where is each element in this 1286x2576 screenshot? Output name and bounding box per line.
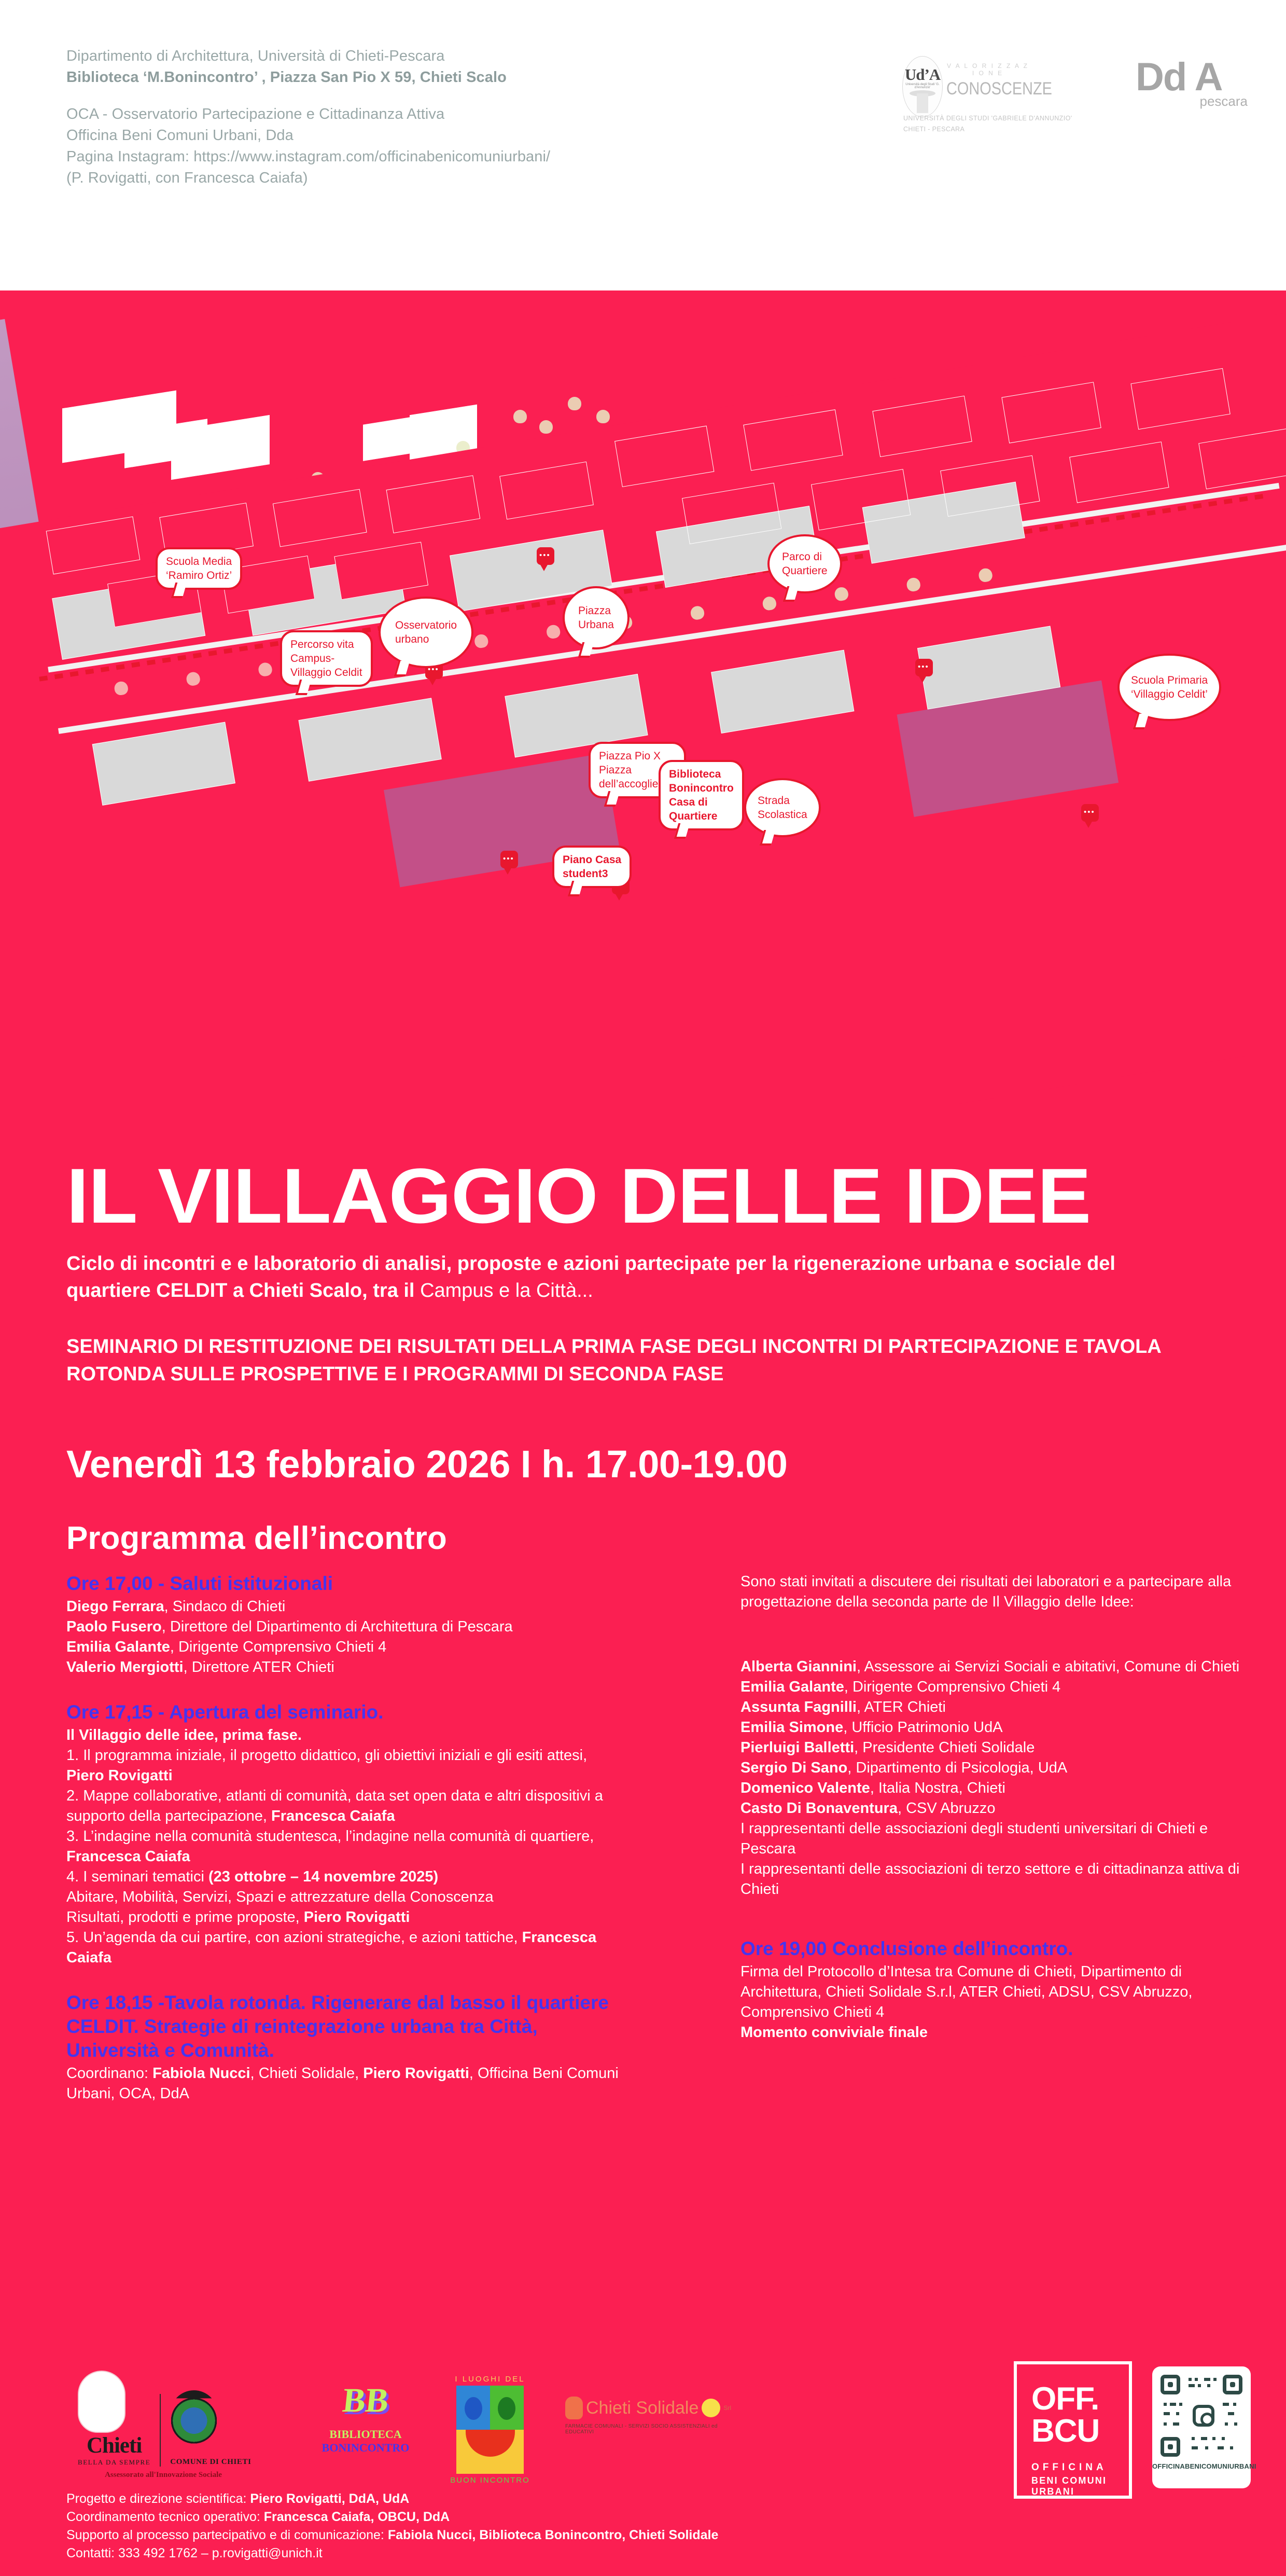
qr-module	[1233, 2403, 1236, 2406]
map-building	[711, 650, 854, 733]
map-tree	[258, 662, 273, 677]
invitee-name: Alberta Giannini	[740, 1658, 857, 1675]
map-pin-icon: •••	[537, 547, 554, 565]
instagram-icon	[1193, 2405, 1214, 2427]
slot-1700-heading: Ore 17,00 - Saluti istituzionali	[66, 1572, 626, 1596]
map-pin-icon: •••	[1081, 804, 1099, 822]
programme-point: 5. Un’agenda da cui partire, con azioni …	[66, 1928, 626, 1968]
header-line-oca: OCA - Osservatorio Partecipazione e Citt…	[66, 104, 803, 125]
map-building-block	[386, 475, 481, 533]
pin-dots: •••	[918, 666, 929, 669]
coord-label: Coordinano:	[66, 2065, 152, 2082]
qr-module	[1223, 2403, 1229, 2406]
invitee-role: , ATER Chieti	[857, 1699, 946, 1715]
map-tree	[114, 681, 129, 696]
speaker-name: Emilia Galante	[66, 1639, 170, 1655]
invitee-role: , Presidente Chieti Solidale	[854, 1739, 1035, 1756]
header-line-instagram[interactable]: Pagina Instagram: https://www.instagram.…	[66, 146, 803, 168]
chieti-solidale-srl: Srl	[723, 2404, 731, 2412]
uda-caption-line1: UNIVERSITÀ DEGLI STUDI 'GABRIELE D'ANNUN…	[903, 113, 1072, 124]
header-line-venue: Biblioteca ‘M.Bonincontro’ , Piazza San …	[66, 67, 803, 88]
qr-module	[1164, 2403, 1167, 2406]
credit-label: Supporto al processo partecipativo e di …	[66, 2528, 388, 2542]
bb-line2: BONINCONTRO	[306, 2441, 425, 2455]
qr-finder-tr	[1223, 2375, 1242, 2394]
invitee-role: , Dipartimento di Psicologia, UdA	[847, 1760, 1067, 1776]
programme-heading: Programma dell’incontro	[66, 1520, 447, 1557]
map-building-block	[334, 542, 428, 600]
programme-slot-1715: Ore 17,15 - Apertura del seminario. Il V…	[66, 1700, 626, 1968]
slot-1715-lead-text: Il Villaggio delle idee, prima fase.	[66, 1727, 302, 1743]
slot-1715-heading: Ore 17,15 - Apertura del seminario.	[66, 1700, 626, 1724]
point-text: 1. Il programma iniziale, il progetto di…	[66, 1747, 587, 1764]
speaker-name: Diego Ferrara	[66, 1598, 164, 1615]
speaker-row: Paolo Fusero, Direttore del Dipartimento…	[66, 1617, 626, 1637]
qr-module	[1173, 2422, 1179, 2426]
qr-module	[1179, 2403, 1182, 2406]
programme-point: Abitare, Mobilità, Servizi, Spazi e attr…	[66, 1887, 626, 1907]
point-text: 4. I seminari tematici	[66, 1868, 208, 1885]
qr-finder-bl	[1161, 2437, 1180, 2457]
bb-monogram: BB	[304, 2381, 427, 2420]
map-building-outline	[1069, 441, 1169, 503]
map-tree	[186, 671, 201, 687]
credit-value: Piero Rovigatti, DdA, UdA	[250, 2491, 409, 2506]
programme-point: Risultati, prodotti e prime proposte, Pi…	[66, 1907, 626, 1928]
subtitle-regular-part: Campus e la Città...	[420, 1280, 593, 1301]
qr-module	[1192, 2446, 1198, 2449]
slot-1900-body: Firma del Protocollo d’Intesa tra Comune…	[740, 1962, 1264, 2023]
point-text: Risultati, prodotti e prime proposte,	[66, 1909, 304, 1926]
qr-module	[1164, 2412, 1170, 2415]
programme-right-column: Sono stati invitati a discutere dei risu…	[740, 1572, 1264, 2066]
speaker-role: , Direttore ATER Chieti	[184, 1659, 334, 1675]
offbcu-caption2: BENI COMUNI URBANI	[1031, 2475, 1129, 2497]
poster-title: IL VILLAGGIO DELLE IDEE	[66, 1157, 1091, 1235]
qr-module	[1176, 2412, 1179, 2415]
invitee-role: , Italia Nostra, Chieti	[870, 1780, 1005, 1796]
map-callout-piano-casa: Piano Casa student3	[552, 846, 632, 888]
map-callout-percorso-vita: Percorso vita Campus- Villaggio Celdit	[280, 630, 373, 687]
comune-label: COMUNE DI CHIETI	[170, 2458, 251, 2467]
chieti-wordmark: Chieti	[78, 2433, 150, 2458]
speaker-row: Valerio Mergiotti, Direttore ATER Chieti	[66, 1657, 626, 1678]
slot-1815-coordinators: Coordinano: Fabiola Nucci, Chieti Solida…	[66, 2063, 626, 2104]
conoscenze-text: CONOSCENZE	[946, 79, 1022, 99]
qr-module	[1189, 2378, 1192, 2381]
dda-wordmark: Dd A	[1136, 57, 1250, 98]
programme-left-column: Ore 17,00 - Saluti istituzionali Diego F…	[66, 1572, 626, 2127]
credit-value: Francesca Caiafa, OBCU, DdA	[264, 2510, 450, 2524]
map-building-outline	[872, 396, 972, 457]
header-spacer	[66, 88, 803, 104]
map-callout-strada-scolastica: Strada Scolastica	[744, 778, 821, 837]
uda-caption-line2: CHIETI - PESCARA	[903, 124, 1072, 135]
point-text: 3. L’indagine nella comunità studentesca…	[66, 1828, 594, 1845]
speaker-role: , Direttore del Dipartimento di Architet…	[162, 1618, 513, 1635]
qr-module	[1195, 2378, 1198, 2381]
invitee-row: Emilia Galante, Dirigente Comprensivo Ch…	[740, 1677, 1264, 1697]
footer-credits: Progetto e direzione scientifica: Piero …	[66, 2490, 1052, 2563]
invitee-role: , Assessore ai Servizi Sociali e abitati…	[857, 1658, 1239, 1675]
offbcu-line1: OFF.	[1031, 2383, 1099, 2415]
invitee-name: Emilia Simone	[740, 1719, 843, 1736]
valorizzazione-text: V A L O R I Z Z A Z I O N E	[946, 62, 1029, 77]
invitees-list: Alberta Giannini, Assessore ai Servizi S…	[740, 1657, 1264, 1900]
map-tree	[596, 410, 610, 423]
slot-1715-lead: Il Villaggio delle idee, prima fase.	[66, 1725, 626, 1746]
map-building-outline	[940, 455, 1040, 517]
credit-row: Progetto e direzione scientifica: Piero …	[66, 2490, 1052, 2508]
map-callout-parco-di-quartiere: Parco di Quartiere	[767, 534, 842, 593]
chieti-tagline: BELLA DA SEMPRE	[78, 2458, 150, 2467]
invitees-intro: Sono stati invitati a discutere dei risu…	[740, 1572, 1264, 1612]
programme-slot-1700: Ore 17,00 - Saluti istituzionali Diego F…	[66, 1572, 626, 1678]
speaker-role: , Dirigente Comprensivo Chieti 4	[170, 1639, 386, 1655]
seminar-description: SEMINARIO DI RESTITUZIONE DEI RISULTATI …	[66, 1333, 1202, 1388]
speaker-row: Diego Ferrara, Sindaco di Chieti	[66, 1597, 626, 1617]
qr-module	[1205, 2446, 1208, 2449]
invitee-row: Casto Di Bonaventura, CSV Abruzzo	[740, 1798, 1264, 1819]
credit-label: Progetto e direzione scientifica:	[66, 2491, 250, 2506]
map-building-block	[499, 462, 594, 520]
logo-chieti-comune: Chieti BELLA DA SEMPRE COMUNE DI CHIETI …	[78, 2371, 296, 2480]
programme-slot-1815: Ore 18,15 -Tavola rotonda. Rigenerare da…	[66, 1991, 626, 2104]
luoghi-eye-blue	[465, 2397, 482, 2420]
map-building-block	[273, 489, 367, 547]
map-tree	[539, 420, 553, 434]
invitee-name: Casto Di Bonaventura	[740, 1800, 898, 1817]
qr-module	[1212, 2437, 1215, 2440]
uda-pillar-body	[917, 93, 928, 113]
invitee-name: Sergio Di Sano	[740, 1760, 847, 1776]
coord-mid: , Chieti Solidale,	[250, 2065, 364, 2082]
logo-divider	[160, 2394, 161, 2467]
pin-dots: •••	[539, 554, 551, 557]
poster-subtitle: Ciclo di incontri e e laboratorio di ana…	[66, 1250, 1202, 1304]
pin-dots: •••	[503, 857, 514, 861]
invitee-row: Assunta Fagnilli, ATER Chieti	[740, 1697, 1264, 1718]
map-callout-osservatorio-urbano: Osservatorio urbano	[379, 597, 473, 668]
qr-module	[1189, 2384, 1195, 2387]
map-building	[92, 722, 235, 806]
offbcu-wordmark: OFF. BCU	[1031, 2383, 1099, 2447]
point-author: Piero Rovigatti	[304, 1909, 410, 1926]
invitee-row: Emilia Simone, Ufficio Patrimonio UdA	[740, 1718, 1264, 1738]
offbcu-logo: OFF. BCU OFFICINA BENI COMUNI URBANI	[1014, 2361, 1132, 2499]
qr-module	[1204, 2378, 1210, 2381]
comune-coat-of-arms-icon	[170, 2390, 218, 2458]
map-tree	[513, 410, 527, 423]
invitee-row: Domenico Valente, Italia Nostra, Chieti	[740, 1778, 1264, 1798]
map-callout-biblioteca-bonincontro: Biblioteca Bonincontro Casa di Quartiere	[659, 760, 744, 830]
offbcu-caption1: OFFICINA	[1031, 2462, 1107, 2473]
map-callout-piazza-urbana: Piazza Urbana	[563, 586, 630, 649]
map-building-outline	[1001, 382, 1101, 443]
invitee-row: I rappresentanti delle associazioni degl…	[740, 1819, 1264, 1859]
qr-module	[1234, 2422, 1237, 2426]
point-text: 5. Un’agenda da cui partire, con azioni …	[66, 1929, 522, 1946]
invitee-row: I rappresentanti delle associazioni di t…	[740, 1859, 1264, 1900]
luoghi-eye-green	[498, 2397, 515, 2420]
invitee-role: I rappresentanti delle associazioni degl…	[740, 1820, 1208, 1857]
credit-row: Supporto al processo partecipativo e di …	[66, 2526, 1052, 2544]
qr-module	[1207, 2384, 1210, 2387]
credit-label: Coordinamento tecnico operativo:	[66, 2510, 264, 2524]
pin-dots: •••	[428, 668, 439, 671]
qr-module	[1164, 2422, 1167, 2426]
map-callout-scuola-primaria: Scuola Primaria ‘Villaggio Celdit’	[1117, 654, 1221, 721]
chieti-head-icon	[78, 2371, 125, 2433]
qr-module	[1228, 2412, 1234, 2415]
luoghi-top-label: I LUOGHI DEL	[441, 2375, 539, 2384]
footer-partner-logos: Chieti BELLA DA SEMPRE COMUNE DI CHIETI …	[78, 2365, 700, 2480]
offbcu-line2: BCU	[1031, 2415, 1099, 2447]
qr-finder-tl	[1161, 2375, 1180, 2394]
programme-point: 2. Mappe collaborative, atlanti di comun…	[66, 1786, 626, 1826]
slot-1815-heading: Ore 18,15 -Tavola rotonda. Rigenerare da…	[66, 1991, 626, 2062]
invitee-name: Emilia Galante	[740, 1679, 844, 1695]
qr-module	[1225, 2422, 1228, 2426]
uda-monogram-subtitle: Università degli Studi 'G. d'Annunzio'	[903, 83, 942, 89]
map-pin-icon: •••	[500, 851, 518, 868]
map-pin-icon: •••	[915, 659, 933, 676]
instagram-qr-code[interactable]: OFFICINABENICOMUNIURBANI	[1152, 2366, 1251, 2488]
speaker-name: Paolo Fusero	[66, 1618, 162, 1635]
uda-monogram: Ud’A	[903, 65, 942, 84]
invitee-name: Assunta Fagnilli	[740, 1699, 857, 1715]
header-address-block: Dipartimento di Architettura, Università…	[66, 46, 803, 189]
poster-header: Dipartimento di Architettura, Università…	[0, 0, 1286, 290]
credit-value: Fabiola Nucci, Biblioteca Bonincontro, C…	[388, 2528, 719, 2542]
map-building-outline	[743, 409, 843, 470]
qr-matrix	[1161, 2375, 1242, 2457]
luoghi-emblem	[456, 2386, 524, 2474]
qr-module	[1218, 2446, 1224, 2449]
invitee-role: I rappresentanti delle associazioni di t…	[740, 1861, 1239, 1898]
map-tree	[690, 605, 705, 620]
invitee-name: Pierluigi Balletti	[740, 1739, 854, 1756]
pin-dots: •••	[1084, 811, 1095, 814]
speaker-name: Valerio Mergiotti	[66, 1659, 184, 1675]
invitee-row: Sergio Di Sano, Dipartimento di Psicolog…	[740, 1758, 1264, 1778]
header-line-department: Dipartimento di Architettura, Università…	[66, 46, 803, 67]
qr-module	[1230, 2446, 1233, 2449]
invitee-role: , CSV Abruzzo	[898, 1800, 996, 1817]
qr-caption: OFFICINABENICOMUNIURBANI	[1152, 2462, 1251, 2470]
programme-slot-1900: Ore 19,00 Conclusione dell’incontro. Fir…	[740, 1937, 1264, 2043]
chieti-solidale-sun-icon	[702, 2399, 720, 2417]
programme-point: 3. L’indagine nella comunità studentesca…	[66, 1826, 626, 1867]
point-dates: (23 ottobre – 14 novembre 2025)	[208, 1868, 438, 1885]
map-tree	[546, 624, 561, 640]
map-tree	[762, 595, 777, 611]
chieti-solidale-hand-icon	[565, 2397, 583, 2419]
qr-module	[1201, 2437, 1207, 2440]
qr-module	[1198, 2384, 1201, 2387]
programme-point: 1. Il programma iniziale, il progetto di…	[66, 1746, 626, 1786]
credit-row-contacts: Contatti: 333 492 1762 – p.rovigatti@uni…	[66, 2544, 1052, 2563]
map-tree	[568, 397, 581, 410]
speaker-role: , Sindaco di Chieti	[164, 1598, 286, 1615]
chieti-solidale-wordmark: Chieti Solidale	[586, 2398, 698, 2418]
qr-module	[1192, 2437, 1195, 2440]
programme-point: 4. I seminari tematici (23 ottobre – 14 …	[66, 1867, 626, 1887]
credit-row: Coordinamento tecnico operativo: Frances…	[66, 2508, 1052, 2526]
map-building-outline	[1198, 428, 1286, 489]
invitee-role: , Dirigente Comprensivo Chieti 4	[844, 1679, 1060, 1695]
map-building-outline	[614, 426, 714, 487]
qr-module	[1222, 2437, 1225, 2440]
coord-name-2: Piero Rovigatti	[363, 2065, 469, 2082]
coord-name-1: Fabiola Nucci	[152, 2065, 250, 2082]
invitee-role: , Ufficio Patrimonio UdA	[843, 1719, 1002, 1736]
uda-caption: UNIVERSITÀ DEGLI STUDI 'GABRIELE D'ANNUN…	[903, 113, 1072, 135]
map-tree	[978, 567, 994, 583]
map-callout-scuola-media: Scuola Media ‘Ramiro Ortiz’	[156, 547, 242, 590]
chieti-assessorato-label: Assessorato all'Innovazione Sociale	[78, 2471, 249, 2480]
map-building-outline	[1130, 368, 1230, 430]
qr-module	[1213, 2378, 1217, 2381]
dda-logo: Dd A pescara	[1136, 57, 1250, 109]
map-tree	[906, 577, 921, 592]
chieti-solidale-caption: FARMACIE COMUNALI - SERVIZI SOCIO ASSIST…	[565, 2423, 736, 2435]
point-author: Piero Rovigatti	[66, 1767, 173, 1784]
invitees-intro-block: Sono stati invitati a discutere dei risu…	[740, 1572, 1264, 1612]
logo-biblioteca-bonincontro: BB BIBLIOTECA BONINCONTRO	[306, 2381, 425, 2455]
invitee-name: Domenico Valente	[740, 1780, 870, 1796]
bb-line1: BIBLIOTECA	[306, 2428, 425, 2441]
invitee-row: Alberta Giannini, Assessore ai Servizi S…	[740, 1657, 1264, 1677]
event-datetime: Venerdì 13 febbraio 2026 I h. 17.00-19.0…	[66, 1442, 787, 1486]
map-building-block	[46, 517, 141, 575]
header-line-officina: Officina Beni Comuni Urbani, Dda	[66, 125, 803, 146]
invitee-row: Pierluigi Balletti, Presidente Chieti So…	[740, 1738, 1264, 1758]
logo-chieti-solidale: Chieti Solidale Srl FARMACIE COMUNALI - …	[565, 2397, 736, 2435]
closing-text: Momento conviviale finale	[740, 2024, 928, 2041]
qr-module	[1170, 2403, 1176, 2406]
slot-1900-closing: Momento conviviale finale	[740, 2023, 1264, 2043]
axonometric-neighbourhood-map: Scuola Media ‘Ramiro Ortiz’ Osservatorio…	[0, 290, 1286, 1105]
header-line-authors: (P. Rovigatti, con Francesca Caiafa)	[66, 168, 803, 189]
luoghi-bottom-label: BUON INCONTRO	[441, 2476, 539, 2485]
credit-contacts: Contatti: 333 492 1762 – p.rovigatti@uni…	[66, 2546, 323, 2560]
speaker-row: Emilia Galante, Dirigente Comprensivo Ch…	[66, 1637, 626, 1657]
map-building	[298, 698, 441, 781]
poster-body: IL VILLAGGIO DELLE IDEE Ciclo di incontr…	[0, 1105, 1286, 2576]
point-author: Francesca Caiafa	[66, 1848, 190, 1865]
map-tree	[473, 633, 489, 649]
point-text: Abitare, Mobilità, Servizi, Spazi e attr…	[66, 1889, 494, 1905]
slot-1900-heading: Ore 19,00 Conclusione dell’incontro.	[740, 1937, 1264, 1961]
point-author: Francesca Caiafa	[271, 1808, 395, 1824]
logo-luoghi-buon-incontro: I LUOGHI DEL BUON INCONTRO	[441, 2375, 539, 2485]
uda-logo: Ud’A Università degli Studi 'G. d'Annunz…	[856, 47, 1125, 145]
map-tree	[834, 586, 849, 602]
